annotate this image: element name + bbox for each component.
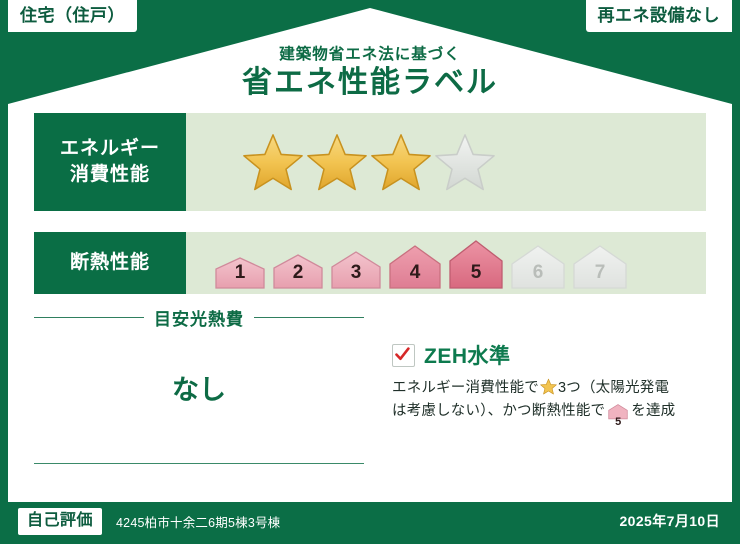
utility-cost-heading: 目安光熱費 [154,305,244,330]
energy-performance-label: 住宅（住戸） 再エネ設備なし 建築物省エネ法に基づく 省エネ性能ラベル エネルギ… [0,0,740,544]
property-address: 4245柏市十余二6期5棟3号棟 [116,512,280,531]
insulation-grade-scale: 1 2 3 [186,232,706,294]
house-grade-number: 4 [386,262,444,284]
zeh-title: ZEH水準 [424,340,511,370]
row-insulation-label: 断熱性能 [34,232,186,294]
utility-cost-heading-row: 目安光熱費 [34,305,364,330]
star-icon-filled-1 [242,131,304,193]
row-energy-label-line1: エネルギー [60,136,160,162]
house-grade-number: 3 [328,262,384,284]
page-title: 省エネ性能ラベル [0,66,740,99]
star-icon-filled-3 [370,131,432,193]
house-icon-grade-1: 1 [212,252,268,290]
house-grade-number: 2 [270,262,326,284]
house-icon-grade-5: 5 [446,237,506,290]
label-title-block: 建築物省エネ法に基づく 省エネ性能ラベル [0,42,740,99]
house-icon-grade-3: 3 [328,246,384,290]
star-icon-empty-4 [434,131,496,193]
zeh-desc-star-count: 3つ（太陽光発電 [558,380,669,396]
house-icon-grade-2: 2 [270,249,326,290]
zeh-desc-part3: を達成 [631,403,675,419]
house-grade-number: 5 [446,262,506,284]
house-icon-grade-7: 7 [570,241,630,290]
row-insulation-performance: 断熱性能 1 2 [34,232,706,294]
self-evaluation-badge: 自己評価 [18,508,102,535]
zeh-checkbox[interactable] [392,344,415,367]
house-icon-inline-grade-5: 5 [607,403,629,428]
row-energy-label: エネルギー 消費性能 [34,113,186,211]
house-grade-number: 1 [212,262,268,284]
heading-rule-right [254,317,364,318]
star-icon-filled-2 [306,131,368,193]
star-icon-inline [540,378,557,395]
label-footer: 自己評価 4245柏市十余二6期5棟3号棟 2025年7月10日 [0,498,740,544]
issue-date: 2025年7月10日 [619,511,720,531]
zeh-block: ZEH水準 エネルギー消費性能で 3つ（太陽光発電 は考慮しない）、かつ断熱性能… [392,340,704,429]
utility-cost-block: 目安光熱費 なし [34,305,364,464]
row-energy-label-line2: 消費性能 [70,162,150,188]
heading-rule-left [34,317,144,318]
utility-cost-value: なし [34,368,364,407]
zeh-desc-part1: エネルギー消費性能で [392,380,539,396]
check-icon [394,346,411,363]
badge-dwelling-type: 住宅（住戸） [8,0,137,32]
house-grade-number: 7 [570,262,630,284]
house-grade-number: 5 [607,417,629,428]
zeh-description: エネルギー消費性能で 3つ（太陽光発電 は考慮しない）、かつ断熱性能で 5 を達… [392,377,704,429]
zeh-title-row: ZEH水準 [392,340,704,370]
title-subtitle: 建築物省エネ法に基づく [0,42,740,64]
star-rating [186,113,706,211]
house-icon-grade-4: 4 [386,241,444,290]
house-grade-number: 6 [508,262,568,284]
badge-renewable-equipment: 再エネ設備なし [586,0,733,32]
utility-cost-underline [34,463,364,464]
row-energy-performance: エネルギー 消費性能 [34,113,706,211]
row-insulation-label-line1: 断熱性能 [70,250,150,276]
house-icon-grade-6: 6 [508,241,568,290]
zeh-desc-part2: は考慮しない）、かつ断熱性能で [392,403,605,419]
